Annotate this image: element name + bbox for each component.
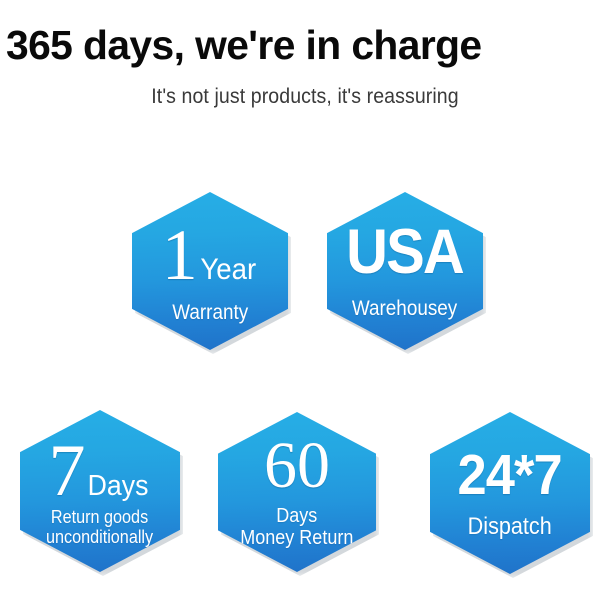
badge-usa-warehouse-headline: USA [341,221,468,283]
badge-return-goods-unit: Days [88,470,149,503]
badge-usa-warehouse-caption: Warehousey [352,297,457,321]
guarantee-badge-grid: 1 Year Warranty USA Warehousey 7 Days [0,0,610,610]
badge-money-return-headline: 60 [264,435,330,497]
badge-money-return-caption-line: Money Return [240,527,353,549]
badge-dispatch-headline: 24*7 [453,446,566,504]
badge-return-goods-headline: 7 Days [48,439,151,503]
badge-usa-warehouse-value: USA [347,221,464,283]
badge-money-return-caption-line: Days [240,505,353,527]
badge-dispatch-value: 24*7 [458,446,562,504]
badge-return-goods-caption: Return goods unconditionally [46,507,153,547]
badge-dispatch-caption: Dispatch [468,514,552,541]
badge-money-return-caption: Days Money Return [240,505,353,550]
badge-warranty-headline: 1 Year [162,224,259,287]
badge-return-goods-caption-line: Return goods [46,507,153,527]
badge-return-goods-value: 7 [48,439,85,503]
badge-warranty-caption: Warranty [172,301,248,325]
badge-dispatch-caption-line: Dispatch [468,514,552,541]
badge-warranty-unit: Year [200,253,256,287]
promo-banner: 365 days, we're in charge It's not just … [0,0,610,610]
badge-warranty-caption-line: Warranty [172,301,248,325]
badge-usa-warehouse-caption-line: Warehousey [352,297,457,321]
badge-return-goods-caption-line: unconditionally [46,527,153,547]
badge-money-return-value: 60 [264,435,330,497]
badge-warranty-value: 1 [162,224,198,286]
